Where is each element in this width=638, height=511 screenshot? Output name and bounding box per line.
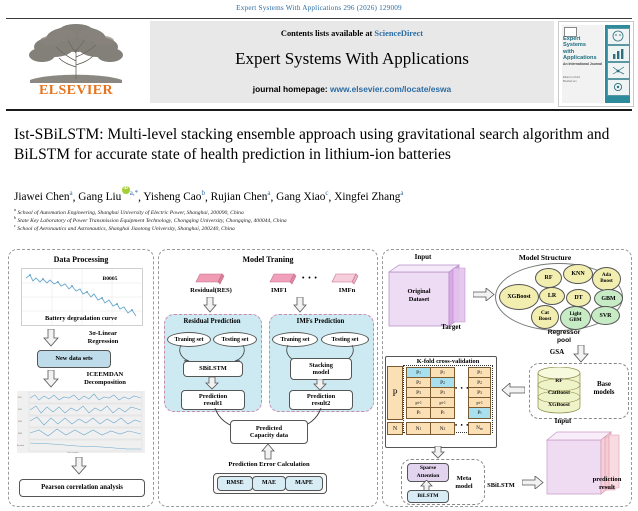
elsevier-wordmark: ELSEVIER (14, 83, 138, 99)
author-5[interactable]: Gang Xiaoc (276, 191, 328, 203)
regressor-catboost[interactable]: CatBoost (531, 305, 559, 329)
journal-cover-thumbnail: Expert Systems with Applications An Inte… (558, 21, 634, 107)
predicted-capacity-box[interactable]: PredictedCapacity data (230, 420, 308, 444)
svg-text:IMF4: IMF4 (18, 433, 22, 435)
chart-caption: Battery degradation curve (21, 316, 141, 323)
imfs-prediction-title: IMFs Prediction (269, 318, 372, 326)
arrow-right-pool-icon (473, 288, 495, 301)
cover-subtitle: An International Journal (563, 62, 603, 66)
kfold-P-label: P (387, 366, 403, 420)
panel-data-processing: Data Processing B0005 Battery degra (8, 249, 154, 507)
svg-text:IMF3: IMF3 (18, 421, 22, 423)
contents-prefix: Contents lists available at (281, 29, 375, 38)
contents-line: Contents lists available at ScienceDirec… (150, 29, 554, 38)
bilstm-box[interactable]: BiLSTM (407, 490, 449, 503)
author-2[interactable]: Gang Liua,* (78, 191, 138, 203)
regressor-xgboost[interactable]: XGBoost (499, 284, 539, 310)
meta-model-label: Metamodel (447, 475, 481, 490)
author-3[interactable]: Yisheng Caob (143, 191, 205, 203)
iceemdan-label: ICEEMDANDecomposition (63, 371, 147, 386)
svg-text:IMF1: IMF1 (18, 397, 22, 399)
kfold-c1-pi[interactable]: Pi (406, 407, 431, 419)
cover-editor: Editor-in-Chief: Binshan Lin (563, 76, 603, 83)
cover-icon-network (607, 62, 630, 79)
regressor-lightgbm[interactable]: LightGBM (560, 306, 591, 330)
metric-mae[interactable]: MAE (252, 476, 286, 491)
imf1-label: IMF1 (259, 287, 299, 295)
regressor-gbm[interactable]: GBM (594, 289, 623, 308)
journal-banner: ELSEVIER Contents lists available at Sci… (6, 18, 632, 111)
arrow-down-gsa-icon (573, 345, 589, 363)
target-label: Target (427, 324, 475, 332)
kfold-n2[interactable]: N2 (430, 422, 455, 435)
residual-slab-icon (195, 271, 225, 285)
svg-text:IMF2: IMF2 (18, 409, 22, 411)
prediction-result-label: predictionresult (583, 476, 631, 491)
svg-text:Cycle number: Cycle number (67, 451, 79, 453)
imfn-slab-icon (331, 271, 359, 285)
svg-text:Residual: Residual (17, 445, 25, 447)
metric-rmse[interactable]: RMSE (217, 476, 253, 491)
arrow-down-meta-icon (431, 446, 445, 459)
elsevier-tree-icon (20, 23, 132, 85)
banner-center: Contents lists available at ScienceDirec… (150, 21, 554, 103)
arrow-left-kfold-icon (501, 383, 525, 397)
residual-prediction-title: Residual Prediction (164, 318, 260, 326)
imf-ellipsis: • • • (302, 274, 318, 282)
sciencedirect-link[interactable]: ScienceDirect (374, 29, 423, 38)
regressor-adaboost[interactable]: AdaBoost (592, 267, 621, 291)
arrow-down-imfs-icon (293, 297, 307, 313)
orcid-icon[interactable] (122, 186, 130, 194)
author-1[interactable]: Jiawei Chena (14, 191, 73, 203)
imf1-slab-icon (269, 271, 297, 285)
base-models-label: Basemodels (583, 381, 625, 396)
input-label: Input (395, 254, 451, 262)
author-list: Jiawei Chena, Gang Liua,*, Yisheng Caob,… (14, 188, 626, 203)
sbilstm-box[interactable]: SBiLSTM (183, 361, 243, 377)
original-dataset-label: OriginalDataset (391, 288, 447, 303)
iceemdan-decomposition-plot: IMF1IMF2IMF3 IMF4Residual Cycle number (17, 391, 145, 453)
cover-icon-chart (607, 45, 630, 62)
arrow-up-error-icon (261, 444, 275, 460)
regressor-svr[interactable]: SVR (591, 306, 620, 325)
new-data-sets-box[interactable]: New data sets (37, 350, 111, 368)
homepage-prefix: journal homepage: (253, 84, 330, 94)
meta-model-name: SBiLSTM (481, 482, 521, 490)
input2-label: Input (533, 418, 593, 426)
arrow-down-residual-icon (203, 297, 217, 313)
linear-regression-label: 3σ-LinearRegression (63, 330, 143, 345)
prediction-result1-box[interactable]: Predictionresult1 (181, 390, 245, 410)
regressor-lr[interactable]: LR (539, 287, 565, 305)
arrow-right-result-icon (522, 476, 544, 489)
regressor-dt[interactable]: DT (566, 289, 591, 307)
paper-page: Expert Systems With Applications 296 (20… (0, 0, 638, 511)
journal-title: Expert Systems With Applications (150, 49, 554, 69)
model-training-heading: Model Traning (159, 255, 377, 264)
residual-res-label: Residual(RES) (173, 287, 249, 295)
prediction-result2-box[interactable]: Predictionresult2 (289, 390, 353, 410)
cover-icon-gear (607, 79, 630, 96)
kfold-ck-pi[interactable]: Pi (468, 407, 491, 419)
arrow-down-res-result-icon (205, 377, 219, 390)
affiliation-c: c School of Aeronautics and Astronautics… (14, 223, 626, 232)
metric-mape[interactable]: MAPE (285, 476, 323, 491)
homepage-line: journal homepage: www.elsevier.com/locat… (150, 84, 554, 94)
regressor-knn[interactable]: KNN (563, 264, 593, 284)
panel-model-training: Model Traning Residual(RES) • • • IMF1 I… (158, 249, 378, 507)
regressor-pool-label: Regressorpool (531, 329, 597, 344)
kfold-n1[interactable]: N1 (406, 422, 431, 435)
running-head: Expert Systems With Applications 296 (20… (0, 4, 638, 12)
chart-series-label: B0005 (87, 276, 133, 283)
base-model-rf: RF (535, 378, 583, 385)
model-structure-heading: Model Structure (495, 254, 595, 262)
prediction-error-title: Prediction Error Calculation (199, 461, 339, 469)
graphical-abstract: Data Processing B0005 Battery degra (6, 244, 632, 508)
cover-icon-face (607, 28, 630, 45)
pearson-correlation-box[interactable]: Pearson correlation analysis (19, 479, 145, 497)
regressor-rf[interactable]: RF (535, 268, 562, 288)
cover-title: Expert Systems with Applications (563, 36, 603, 62)
author-4[interactable]: Rujian Chena (211, 191, 271, 203)
kfold-nm[interactable]: Nm (468, 422, 491, 435)
base-model-xgboost: XGBoost (535, 402, 583, 409)
imfn-label: IMFn (327, 287, 367, 295)
gsa-label: GSA (541, 349, 573, 357)
base-model-catboost: CatBoost (535, 390, 583, 397)
journal-homepage-link[interactable]: www.elsevier.com/locate/eswa (330, 84, 451, 94)
elsevier-logo: ELSEVIER (6, 21, 146, 107)
kfold-c2-pi[interactable]: Pi (430, 407, 455, 419)
article-title: Ist-SBiLSTM: Multi-level stacking ensemb… (14, 125, 626, 164)
data-processing-heading: Data Processing (9, 255, 153, 264)
arrow-down-2-icon (43, 370, 59, 388)
kfold-N-label: N (387, 422, 403, 435)
panel-model-structure: Input OriginalDataset Target Model Struc… (382, 249, 632, 507)
arrow-down-1-icon (43, 329, 59, 347)
stacking-model-box[interactable]: Stackingmodel (290, 358, 352, 380)
arrow-down-3-icon (71, 457, 87, 475)
author-6[interactable]: Xingfei Zhanga (334, 191, 403, 203)
